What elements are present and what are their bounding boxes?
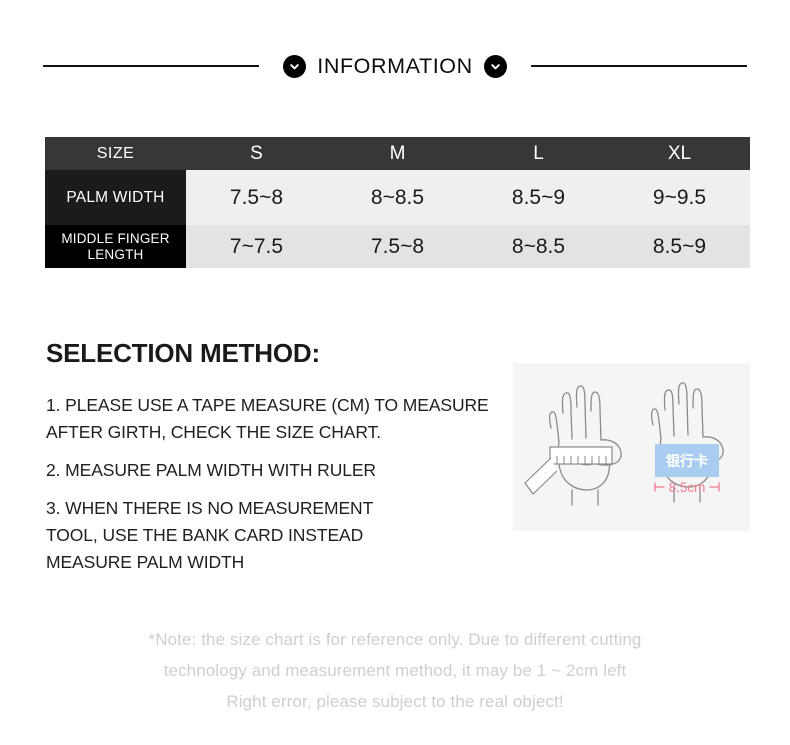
table-header-size-s: S xyxy=(186,137,327,170)
selection-method-title: SELECTION METHOD: xyxy=(46,338,320,369)
selection-method-item-3: 3. WHEN THERE IS NO MEASUREMENT TOOL, US… xyxy=(46,495,516,576)
cell-palm-width-xl: 9~9.5 xyxy=(609,170,750,225)
header-rule-left xyxy=(43,65,259,67)
table-header-size-m: M xyxy=(327,137,468,170)
note-line-3: Right error, please subject to the real … xyxy=(0,686,790,717)
selection-method-list: 1. PLEASE USE A TAPE MEASURE (CM) TO MEA… xyxy=(46,392,516,576)
bank-card-icon: 银行卡 xyxy=(655,444,719,477)
cell-palm-width-s: 7.5~8 xyxy=(186,170,327,225)
table-row-middle-finger-length: MIDDLE FINGER LENGTH 7~7.5 7.5~8 8~8.5 8… xyxy=(45,225,750,268)
cell-middle-finger-s: 7~7.5 xyxy=(186,225,327,268)
chevron-down-circle-icon-left xyxy=(283,55,306,78)
cell-middle-finger-m: 7.5~8 xyxy=(327,225,468,268)
table-header-size-l: L xyxy=(468,137,609,170)
selection-method-item-2: 2. MEASURE PALM WIDTH WITH RULER xyxy=(46,457,516,484)
disclaimer-note: *Note: the size chart is for reference o… xyxy=(0,624,790,717)
selection-method-item-1: 1. PLEASE USE A TAPE MEASURE (CM) TO MEA… xyxy=(46,392,516,446)
header-center: INFORMATION xyxy=(283,54,507,79)
chevron-down-circle-icon-right xyxy=(484,55,507,78)
cell-middle-finger-l: 8~8.5 xyxy=(468,225,609,268)
note-line-1: *Note: the size chart is for reference o… xyxy=(0,624,790,655)
size-chart-table: SIZE S M L XL PALM WIDTH 7.5~8 8~8.5 8.5… xyxy=(45,137,750,268)
left-hand-diagram xyxy=(550,386,622,505)
table-header-row: SIZE S M L XL xyxy=(45,137,750,170)
table-row-palm-width: PALM WIDTH 7.5~8 8~8.5 8.5~9 9~9.5 xyxy=(45,170,750,225)
information-header: INFORMATION xyxy=(0,46,790,86)
dimension-label: 8.5cm xyxy=(669,480,706,495)
cell-palm-width-l: 8.5~9 xyxy=(468,170,609,225)
note-line-2: technology and measurement method, it ma… xyxy=(0,655,790,686)
row-label-middle-finger-length: MIDDLE FINGER LENGTH xyxy=(45,225,186,268)
table-corner-label: SIZE xyxy=(45,137,186,170)
table-header-size-xl: XL xyxy=(609,137,750,170)
cell-middle-finger-xl: 8.5~9 xyxy=(609,225,750,268)
bank-card-label: 银行卡 xyxy=(666,453,708,469)
header-rule-right xyxy=(531,65,747,67)
hand-measurement-illustration: 银行卡 8.5cm xyxy=(513,363,750,531)
row-label-palm-width: PALM WIDTH xyxy=(45,170,186,225)
cell-palm-width-m: 8~8.5 xyxy=(327,170,468,225)
page-title: INFORMATION xyxy=(317,54,473,79)
